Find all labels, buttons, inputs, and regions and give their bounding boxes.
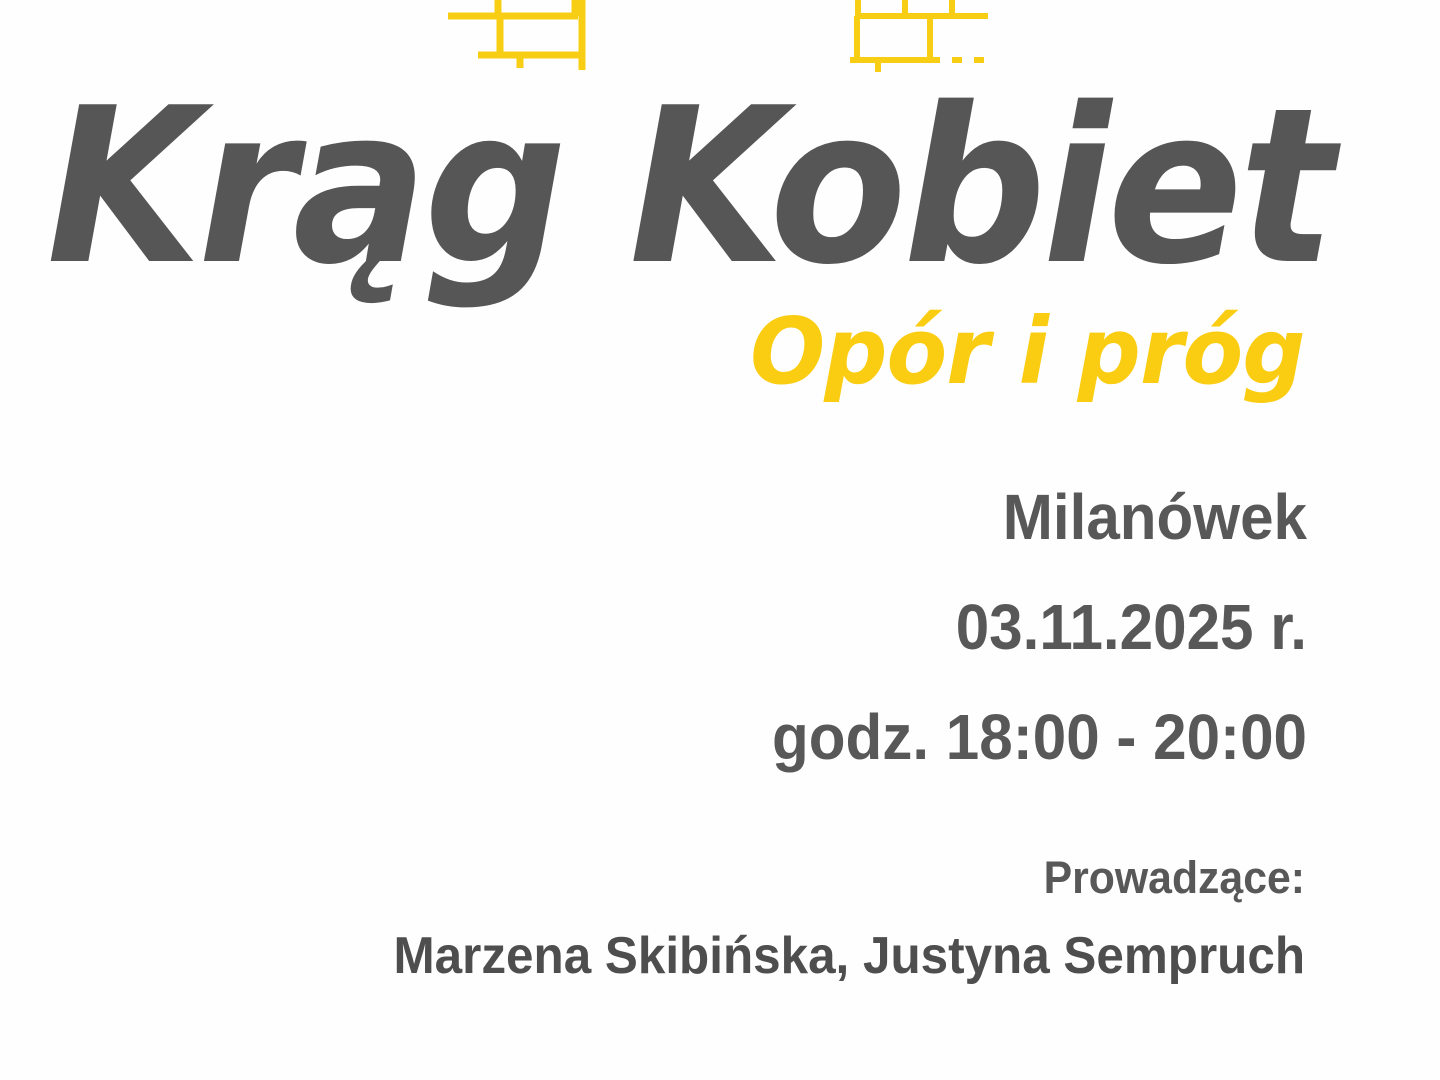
subtitle-row: Opór i próg <box>0 298 1305 405</box>
event-details-block: Milanówek 03.11.2025 r. godz. 18:00 - 20… <box>0 462 1307 792</box>
event-date: 03.11.2025 r. <box>78 572 1307 682</box>
page-title: Krąg Kobiet <box>47 88 1284 286</box>
event-location: Milanówek <box>78 462 1307 572</box>
facilitators-label: Prowadzące: <box>65 852 1305 904</box>
title-block: Krąg Kobiet <box>0 88 1330 286</box>
facilitators-block: Prowadzące: Marzena Skibińska, Justyna S… <box>0 852 1305 986</box>
event-time: godz. 18:00 - 20:00 <box>78 682 1307 792</box>
facilitators-names: Marzena Skibińska, Justyna Sempruch <box>65 926 1305 986</box>
page-subtitle: Opór i próg <box>751 298 1305 405</box>
poster-canvas: Krąg Kobiet Opór i próg Milanówek 03.11.… <box>0 0 1440 1080</box>
